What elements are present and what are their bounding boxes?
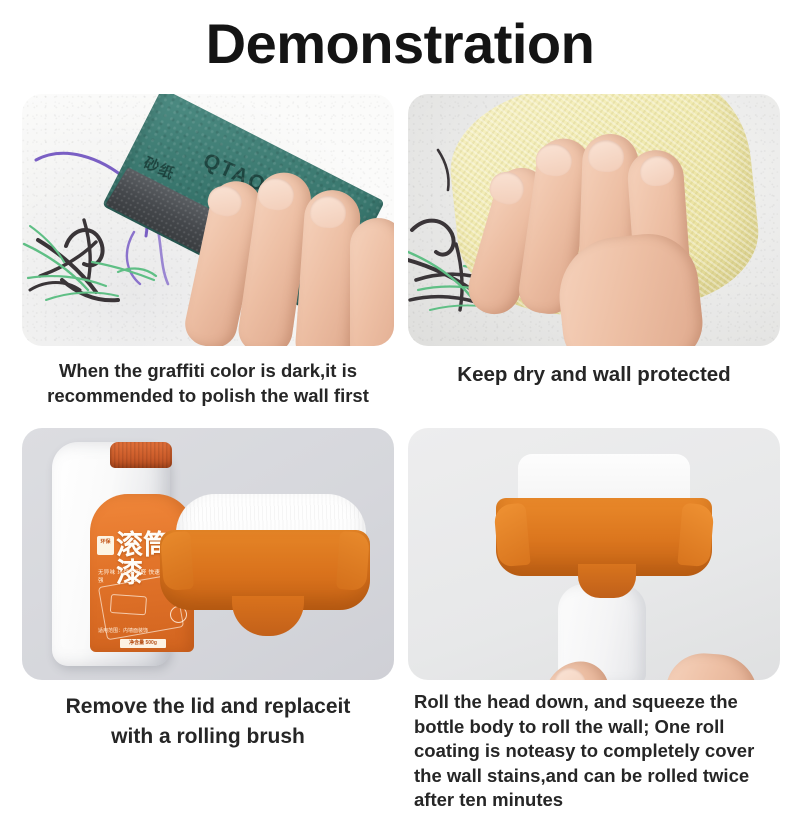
roller-frame <box>496 498 712 576</box>
label-footer-text: 适用范围：内墙面装饰 <box>98 627 148 634</box>
hand-wiping-wall <box>482 116 732 346</box>
roller-brush-on-wall <box>496 454 712 614</box>
step-1-photo: QTAOLED 砂纸 SH5 S <box>22 94 394 346</box>
label-badge: 环保 <box>97 536 114 555</box>
demonstration-grid: QTAOLED 砂纸 SH5 S When the graffiti color… <box>0 90 800 800</box>
step-3-caption: Remove the lid and replaceit with a roll… <box>22 692 394 752</box>
step-2-caption: Keep dry and wall protected <box>408 362 780 388</box>
hand-holding-block <box>180 146 394 346</box>
step-4-photo <box>408 428 780 680</box>
roller-arm-left <box>493 503 530 568</box>
step-card-1: QTAOLED 砂纸 SH5 S When the graffiti color… <box>22 94 394 408</box>
bottle-cap <box>110 442 172 468</box>
roller-brush-head <box>160 494 370 644</box>
roller-arm-left <box>160 531 194 591</box>
roller-neck-connector <box>232 596 304 636</box>
roller-neck-connector <box>578 564 636 598</box>
roller-frame <box>160 530 370 610</box>
step-1-caption: When the graffiti color is dark,it is re… <box>22 358 394 408</box>
step-2-photo <box>408 94 780 346</box>
step-card-4: Roll the head down, and squeeze the bott… <box>408 428 780 813</box>
step-3-photo: 环保 滚筒漆 无异味 环保无甲醛 快速覆盖 遮盖力强 适用范围：内墙面装饰 净含… <box>22 428 394 680</box>
step-card-3: 环保 滚筒漆 无异味 环保无甲醛 快速覆盖 遮盖力强 适用范围：内墙面装饰 净含… <box>22 428 394 752</box>
roller-arm-right <box>677 503 714 568</box>
roller-arm-right <box>336 531 370 591</box>
step-card-2: Keep dry and wall protected <box>408 94 780 388</box>
hand-squeezing-bottle <box>546 624 756 680</box>
paint-bottle: 环保 滚筒漆 无异味 环保无甲醛 快速覆盖 遮盖力强 适用范围：内墙面装饰 净含… <box>52 442 170 666</box>
step-4-caption: Roll the head down, and squeeze the bott… <box>408 690 780 813</box>
page-title: Demonstration <box>0 12 800 76</box>
